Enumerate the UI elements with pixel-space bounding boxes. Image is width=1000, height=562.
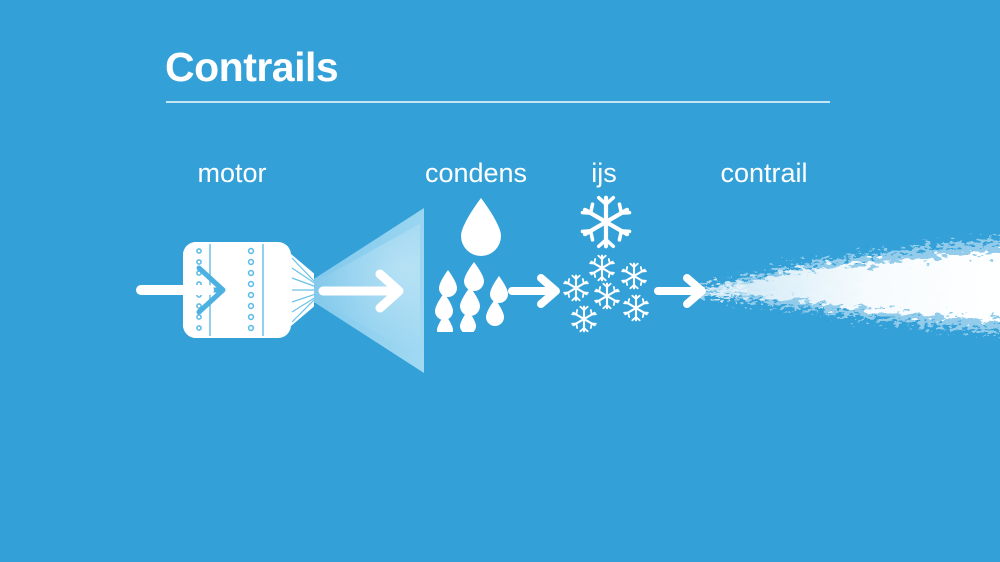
exhaust-arrow [318, 268, 408, 314]
stage-label-motor: motor [197, 158, 266, 189]
contrails-infographic-slide: Contrails motor condens ijs contrail [0, 0, 1000, 562]
water-droplets-icon [435, 192, 527, 332]
stage-label-condens: condens [425, 158, 527, 189]
page-title: Contrails [165, 44, 338, 91]
droplet-large [461, 198, 501, 256]
droplet-cluster [435, 262, 508, 332]
stage-label-ijs: ijs [591, 158, 617, 189]
intake-arrow [136, 278, 216, 302]
title-divider [166, 101, 830, 103]
condens-to-ijs-arrow [508, 272, 564, 310]
snowflake-cluster [564, 256, 648, 332]
engine-turbine-exhaust [291, 254, 314, 326]
snowflake-large [583, 198, 630, 247]
stage-label-contrail: contrail [720, 158, 807, 189]
contrail-speckles [710, 240, 1000, 332]
contrail-cloud-icon [700, 228, 1000, 348]
snowflakes-icon [562, 192, 652, 334]
